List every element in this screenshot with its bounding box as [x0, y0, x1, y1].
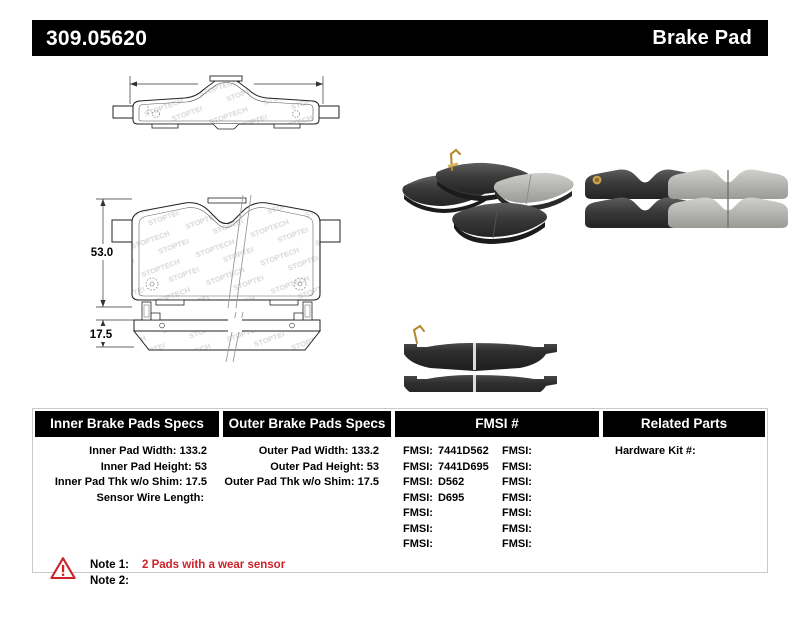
column-related-parts: Related Parts Hardware Kit #: [601, 409, 767, 572]
brake-pad-edge-drawing [134, 302, 320, 362]
spec-value: 17.5 [358, 476, 379, 488]
spec-row: Outer Pad Width:133.2 [221, 444, 393, 460]
fmsi-row: FMSI: [403, 506, 502, 522]
spec-row [221, 491, 393, 507]
note-label: Note 2: [90, 573, 136, 589]
fmsi-row: FMSI: [502, 506, 601, 522]
note-value: 2 Pads with a wear sensor [142, 559, 285, 571]
column-body-inner: Inner Pad Width:133.2 Inner Pad Height:5… [33, 437, 221, 572]
photo-pads-perspective [402, 150, 573, 244]
fmsi-label: FMSI: [403, 523, 433, 535]
fmsi-left-list: FMSI:7441D562 FMSI:7441D695 FMSI:D562 FM… [403, 444, 502, 553]
dimension-thickness-text: 17.5 [90, 329, 113, 341]
column-body-outer: Outer Pad Width:133.2 Outer Pad Height:5… [221, 437, 393, 572]
spec-row: Outer Pad Thk w/o Shim:17.5 [221, 475, 393, 491]
illustrations-svg: STOPTECH STOPTECH [0, 62, 800, 392]
fmsi-row: FMSI: [502, 460, 601, 476]
fmsi-label: FMSI: [502, 507, 532, 519]
title-bar: 309.05620 Brake Pad [32, 20, 768, 56]
spec-value: 53 [367, 461, 379, 473]
spec-value: 133.2 [351, 445, 379, 457]
fmsi-label: FMSI: [403, 445, 433, 457]
spec-value: 53 [195, 461, 207, 473]
spec-value: 133.2 [179, 445, 207, 457]
spec-row: Sensor Wire Length: [33, 491, 221, 507]
spec-label: Outer Pad Width: [259, 445, 349, 457]
fmsi-label: FMSI: [502, 461, 532, 473]
fmsi-value: D562 [438, 476, 464, 488]
photo-pads-flat [585, 170, 788, 229]
product-type-label: Brake Pad [652, 28, 752, 48]
warning-triangle-icon [50, 556, 76, 580]
note-label: Note 1: [90, 557, 136, 573]
spec-label: Outer Pad Thk w/o Shim: [224, 476, 354, 488]
related-row: Hardware Kit #: [601, 444, 767, 460]
fmsi-row: FMSI:7441D695 [403, 460, 502, 476]
fmsi-row: FMSI:D695 [403, 491, 502, 507]
column-header-fmsi: FMSI # [395, 411, 599, 437]
column-body-fmsi: FMSI:7441D562 FMSI:7441D695 FMSI:D562 FM… [393, 437, 601, 572]
spec-label: Inner Pad Height: [101, 461, 192, 473]
column-body-related: Hardware Kit #: [601, 437, 767, 572]
brake-pad-face-drawing [112, 195, 340, 308]
column-header-outer: Outer Brake Pads Specs [223, 411, 391, 437]
fmsi-value: D695 [438, 492, 464, 504]
fmsi-row: FMSI: [502, 522, 601, 538]
fmsi-label: FMSI: [403, 492, 433, 504]
notes-section: Note 1:2 Pads with a wear sensor Note 2: [50, 556, 285, 589]
fmsi-right-list: FMSI: FMSI: FMSI: FMSI: FMSI: [502, 444, 601, 553]
column-header-inner: Inner Brake Pads Specs [35, 411, 219, 437]
spec-row: Inner Pad Thk w/o Shim:17.5 [33, 475, 221, 491]
product-illustration-area: STOPTECH STOPTECH [0, 62, 800, 392]
related-label: Hardware Kit #: [615, 445, 696, 457]
specifications-table: Inner Brake Pads Specs Inner Pad Width:1… [32, 408, 768, 573]
fmsi-label: FMSI: [502, 492, 532, 504]
spec-label: Inner Pad Thk w/o Shim: [55, 476, 183, 488]
spec-label: Outer Pad Height: [270, 461, 364, 473]
fmsi-label: FMSI: [502, 445, 532, 457]
fmsi-value: 7441D562 [438, 445, 489, 457]
fmsi-row: FMSI: [403, 522, 502, 538]
fmsi-row: FMSI: [502, 475, 601, 491]
dimension-height-text: 53.0 [91, 247, 113, 259]
fmsi-row: FMSI:D562 [403, 475, 502, 491]
photo-pads-edge [404, 326, 557, 392]
column-inner-specs: Inner Brake Pads Specs Inner Pad Width:1… [33, 409, 221, 572]
fmsi-row: FMSI: [403, 537, 502, 553]
column-outer-specs: Outer Brake Pads Specs Outer Pad Width:1… [221, 409, 393, 572]
fmsi-row: FMSI: [502, 491, 601, 507]
fmsi-value: 7441D695 [438, 461, 489, 473]
spec-label: Sensor Wire Length: [97, 492, 204, 504]
fmsi-label: FMSI: [502, 476, 532, 488]
spec-value: 17.5 [186, 476, 207, 488]
fmsi-label: FMSI: [403, 507, 433, 519]
note-row-1: Note 1:2 Pads with a wear sensor [90, 557, 285, 573]
spec-label: Inner Pad Width: [89, 445, 176, 457]
fmsi-label: FMSI: [403, 538, 433, 550]
spec-row: Inner Pad Height:53 [33, 460, 221, 476]
fmsi-label: FMSI: [403, 461, 433, 473]
spec-row: Outer Pad Height:53 [221, 460, 393, 476]
fmsi-label: FMSI: [403, 476, 433, 488]
note-row-2: Note 2: [90, 573, 285, 589]
column-header-related: Related Parts [603, 411, 765, 437]
fmsi-label: FMSI: [502, 523, 532, 535]
fmsi-row: FMSI:7441D562 [403, 444, 502, 460]
spec-row: Inner Pad Width:133.2 [33, 444, 221, 460]
part-number: 309.05620 [46, 28, 147, 49]
pad-edge-lower [404, 375, 557, 392]
fmsi-label: FMSI: [502, 538, 532, 550]
fmsi-row: FMSI: [502, 537, 601, 553]
pad-edge-upper [404, 343, 557, 371]
fmsi-row: FMSI: [502, 444, 601, 460]
column-fmsi: FMSI # FMSI:7441D562 FMSI:7441D695 FMSI:… [393, 409, 601, 572]
